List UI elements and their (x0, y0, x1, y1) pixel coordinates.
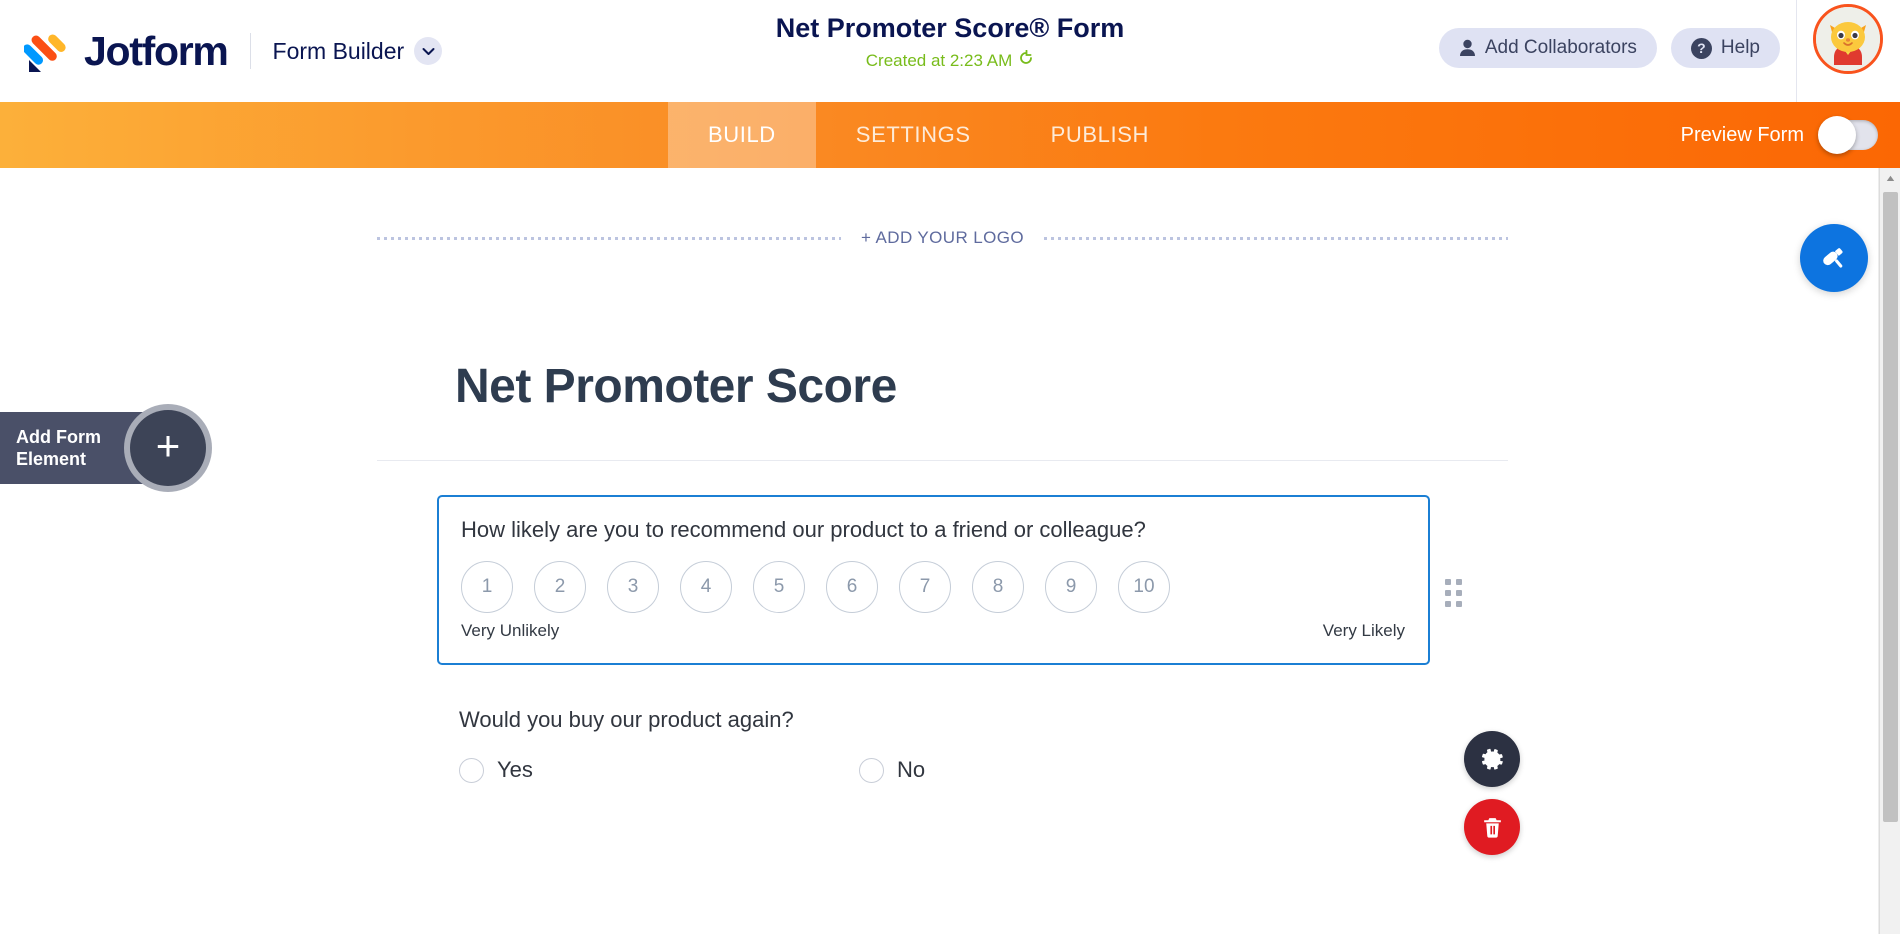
radio-option-no-label: No (897, 757, 925, 783)
nps-option-7[interactable]: 7 (899, 561, 951, 613)
top-header: Jotform Form Builder Net Promoter Score®… (0, 0, 1900, 102)
radio-option-yes[interactable]: Yes (459, 757, 859, 783)
question-nps-label: How likely are you to recommend our prod… (461, 517, 1404, 543)
add-logo-row: + ADD YOUR LOGO (377, 228, 1508, 248)
refresh-icon[interactable] (1018, 50, 1034, 71)
element-properties-button[interactable] (1464, 731, 1520, 787)
cat-avatar-icon (1816, 7, 1880, 71)
nps-left-label: Very Unlikely (461, 621, 559, 641)
question-nps[interactable]: How likely are you to recommend our prod… (437, 495, 1430, 665)
add-form-element-line1: Add Form (16, 426, 124, 449)
gear-icon (1479, 746, 1506, 773)
nps-option-5[interactable]: 5 (753, 561, 805, 613)
header-actions: Add Collaborators ? Help (1439, 28, 1780, 68)
jotform-logo-icon[interactable] (24, 28, 70, 74)
nps-scale-labels: Very Unlikely Very Likely (461, 621, 1405, 641)
tab-publish[interactable]: PUBLISH (1011, 102, 1189, 168)
nps-option-8[interactable]: 8 (972, 561, 1024, 613)
tab-build[interactable]: BUILD (668, 102, 816, 168)
primary-nav: BUILD SETTINGS PUBLISH Preview Form (0, 102, 1900, 168)
question-repurchase[interactable]: Would you buy our product again? Yes No (459, 707, 1430, 783)
toggle-knob (1818, 116, 1856, 154)
element-action-buttons (1464, 731, 1520, 855)
scrollbar-thumb[interactable] (1883, 192, 1898, 822)
product-switcher-label: Form Builder (273, 38, 405, 65)
nps-option-1[interactable]: 1 (461, 561, 513, 613)
avatar[interactable] (1813, 4, 1883, 74)
question-repurchase-label: Would you buy our product again? (459, 707, 1430, 733)
nps-scale-row: 1 2 3 4 5 6 7 8 9 10 (461, 561, 1404, 613)
form-heading-block[interactable]: Net Promoter Score (377, 307, 1508, 461)
nps-option-4[interactable]: 4 (680, 561, 732, 613)
add-collaborators-label: Add Collaborators (1485, 37, 1637, 59)
created-at-text: Created at 2:23 AM (866, 51, 1012, 71)
plus-icon: + (130, 410, 206, 486)
preview-form-toggle[interactable] (1820, 120, 1878, 150)
product-switcher[interactable]: Form Builder (273, 37, 443, 65)
add-form-element-button[interactable]: + (124, 404, 212, 492)
radio-option-no[interactable]: No (859, 757, 925, 783)
nps-right-label: Very Likely (1323, 621, 1405, 641)
dotted-divider-right (1044, 237, 1508, 240)
repurchase-options: Yes No (459, 757, 1430, 783)
add-collaborators-button[interactable]: Add Collaborators (1439, 28, 1657, 68)
caret-up-icon[interactable] (1880, 168, 1900, 188)
nps-option-2[interactable]: 2 (534, 561, 586, 613)
person-icon (1459, 39, 1476, 57)
tab-settings[interactable]: SETTINGS (816, 102, 1011, 168)
avatar-divider (1796, 0, 1797, 102)
brand-area[interactable]: Jotform Form Builder (0, 0, 442, 102)
header-divider (250, 33, 251, 69)
element-delete-button[interactable] (1464, 799, 1520, 855)
radio-circle-icon[interactable] (859, 758, 884, 783)
question-mark-icon: ? (1691, 38, 1712, 59)
help-label: Help (1721, 37, 1760, 59)
nps-option-6[interactable]: 6 (826, 561, 878, 613)
drag-handle-icon[interactable] (1445, 579, 1462, 607)
form-designer-button[interactable] (1800, 224, 1868, 292)
vertical-scrollbar[interactable] (1879, 168, 1900, 934)
created-at-status: Created at 2:23 AM (866, 50, 1034, 71)
dotted-divider-left (377, 237, 841, 240)
brand-name: Jotform (84, 31, 228, 72)
form-canvas: Add Form Element + + ADD YOUR LOGO Net P… (0, 168, 1879, 934)
add-form-element-line2: Element (16, 448, 124, 471)
add-form-element-label: Add Form Element (0, 426, 124, 471)
nps-option-3[interactable]: 3 (607, 561, 659, 613)
form-heading: Net Promoter Score (455, 359, 1508, 414)
nps-option-9[interactable]: 9 (1045, 561, 1097, 613)
preview-form-label: Preview Form (1681, 124, 1804, 147)
add-your-logo-button[interactable]: + ADD YOUR LOGO (861, 228, 1024, 248)
radio-circle-icon[interactable] (459, 758, 484, 783)
nav-tabs: BUILD SETTINGS PUBLISH (668, 102, 1189, 168)
nps-option-10[interactable]: 10 (1118, 561, 1170, 613)
help-button[interactable]: ? Help (1671, 28, 1780, 68)
preview-form-control: Preview Form (1681, 102, 1878, 168)
form-sheet: Net Promoter Score How likely are you to… (377, 307, 1508, 934)
trash-icon (1480, 815, 1505, 840)
radio-option-yes-label: Yes (497, 757, 533, 783)
chevron-down-icon[interactable] (414, 37, 442, 65)
paint-roller-icon (1816, 240, 1852, 276)
